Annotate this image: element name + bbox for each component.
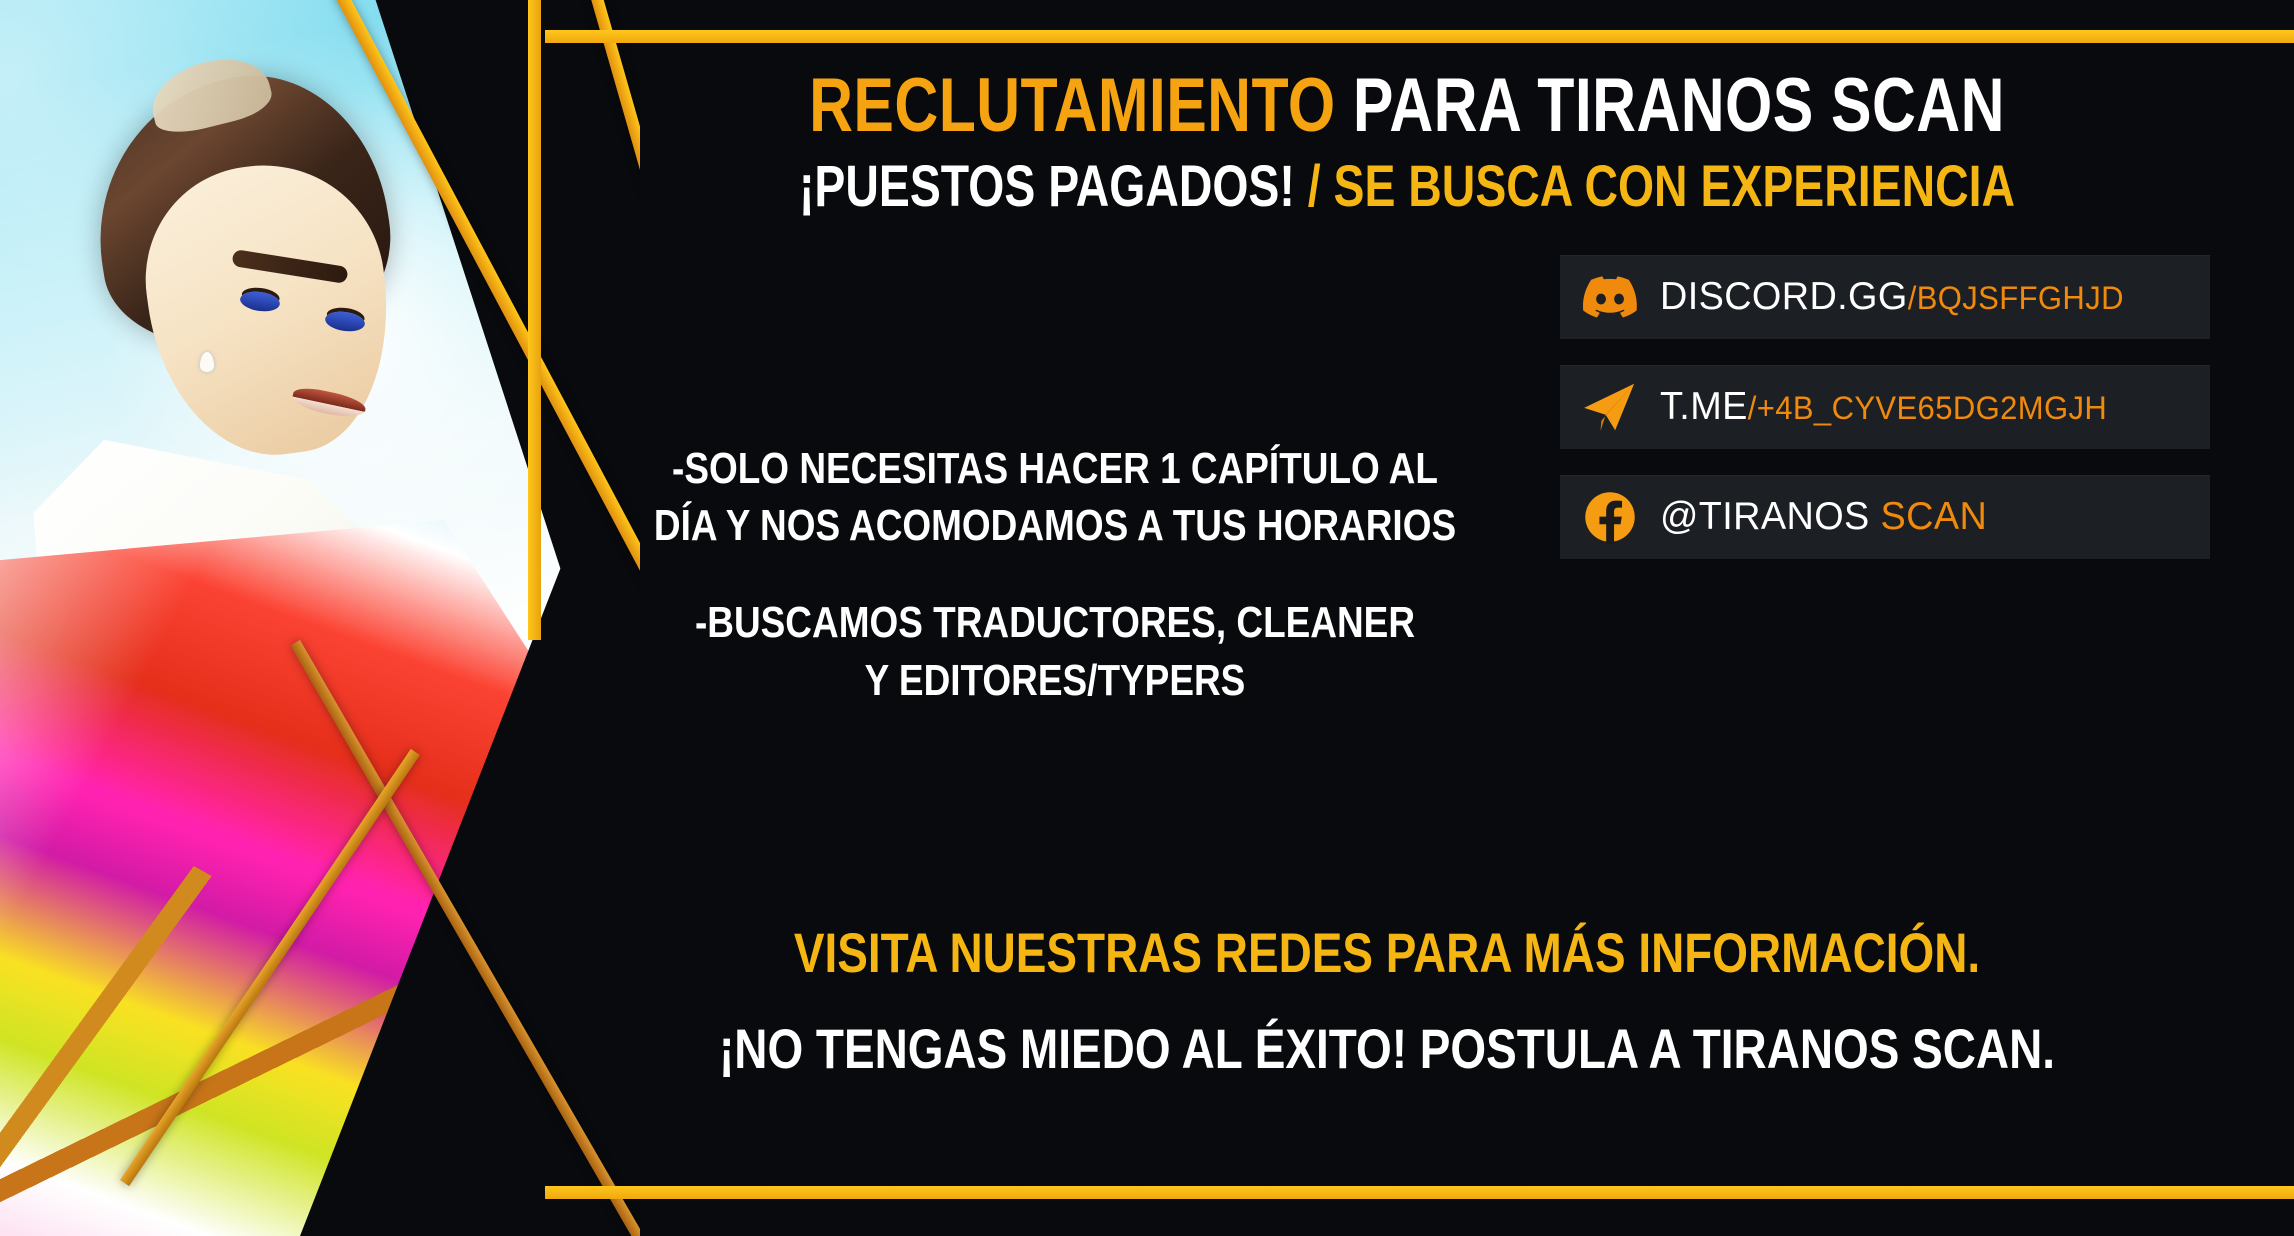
headline-white: PARA TIRANOS SCAN	[1336, 63, 2005, 148]
telegram-invite-code: /+4B_CYVE65DG2MGJH	[1748, 390, 2107, 426]
requirement-item: -SOLO NECESITAS HACER 1 CAPÍTULO AL DÍA …	[606, 440, 1505, 554]
page-title: RECLUTAMIENTO PARA TIRANOS SCAN	[729, 68, 2084, 144]
discord-icon	[1582, 269, 1638, 325]
banner-content: RECLUTAMIENTO PARA TIRANOS SCAN ¡PUESTOS…	[560, 0, 2294, 1236]
requirement-item: -BUSCAMOS TRADUCTORES, CLEANER Y EDITORE…	[606, 594, 1505, 708]
call-to-action: VISITA NUESTRAS REDES PARA MÁS INFORMACI…	[520, 925, 2254, 1077]
cta-line-2: ¡NO TENGAS MIEDO AL ÉXITO! POSTULA A TIR…	[676, 1021, 2098, 1077]
discord-domain: DISCORD.GG	[1660, 275, 1908, 318]
contact-telegram-text: T.ME/+4B_CYVE65DG2MGJH	[1660, 385, 2107, 429]
telegram-domain: T.ME	[1660, 385, 1748, 428]
page-subtitle: ¡PUESTOS PAGADOS! / SE BUSCA CON EXPERIE…	[729, 158, 2084, 216]
facebook-handle: @TIRANOS	[1660, 495, 1870, 538]
contact-discord-text: DISCORD.GG/BQJSFFGHJD	[1660, 275, 2124, 319]
recruitment-banner: RECLUTAMIENTO PARA TIRANOS SCAN ¡PUESTOS…	[0, 0, 2294, 1236]
contact-row-discord[interactable]: DISCORD.GG/BQJSFFGHJD	[1560, 255, 2210, 339]
subhead-accent: / SE BUSCA CON EXPERIENCIA	[1295, 154, 2015, 219]
contact-row-facebook[interactable]: @TIRANOS SCAN	[1560, 475, 2210, 559]
facebook-icon	[1582, 489, 1638, 545]
telegram-icon	[1582, 379, 1638, 435]
headline-accent: RECLUTAMIENTO	[809, 63, 1335, 148]
facebook-handle-accent: SCAN	[1870, 495, 1988, 538]
contact-facebook-text: @TIRANOS SCAN	[1660, 495, 1987, 539]
contact-list: DISCORD.GG/BQJSFFGHJD T.ME/+4B_CYVE65DG2…	[1560, 255, 2210, 585]
contact-row-telegram[interactable]: T.ME/+4B_CYVE65DG2MGJH	[1560, 365, 2210, 449]
character-sweat-drop	[200, 352, 214, 372]
subhead-white: ¡PUESTOS PAGADOS!	[799, 154, 1295, 219]
discord-invite-code: /BQJSFFGHJD	[1908, 280, 2124, 316]
requirements-list: -SOLO NECESITAS HACER 1 CAPÍTULO AL DÍA …	[520, 440, 1590, 709]
cta-line-1: VISITA NUESTRAS REDES PARA MÁS INFORMACI…	[676, 925, 2098, 981]
